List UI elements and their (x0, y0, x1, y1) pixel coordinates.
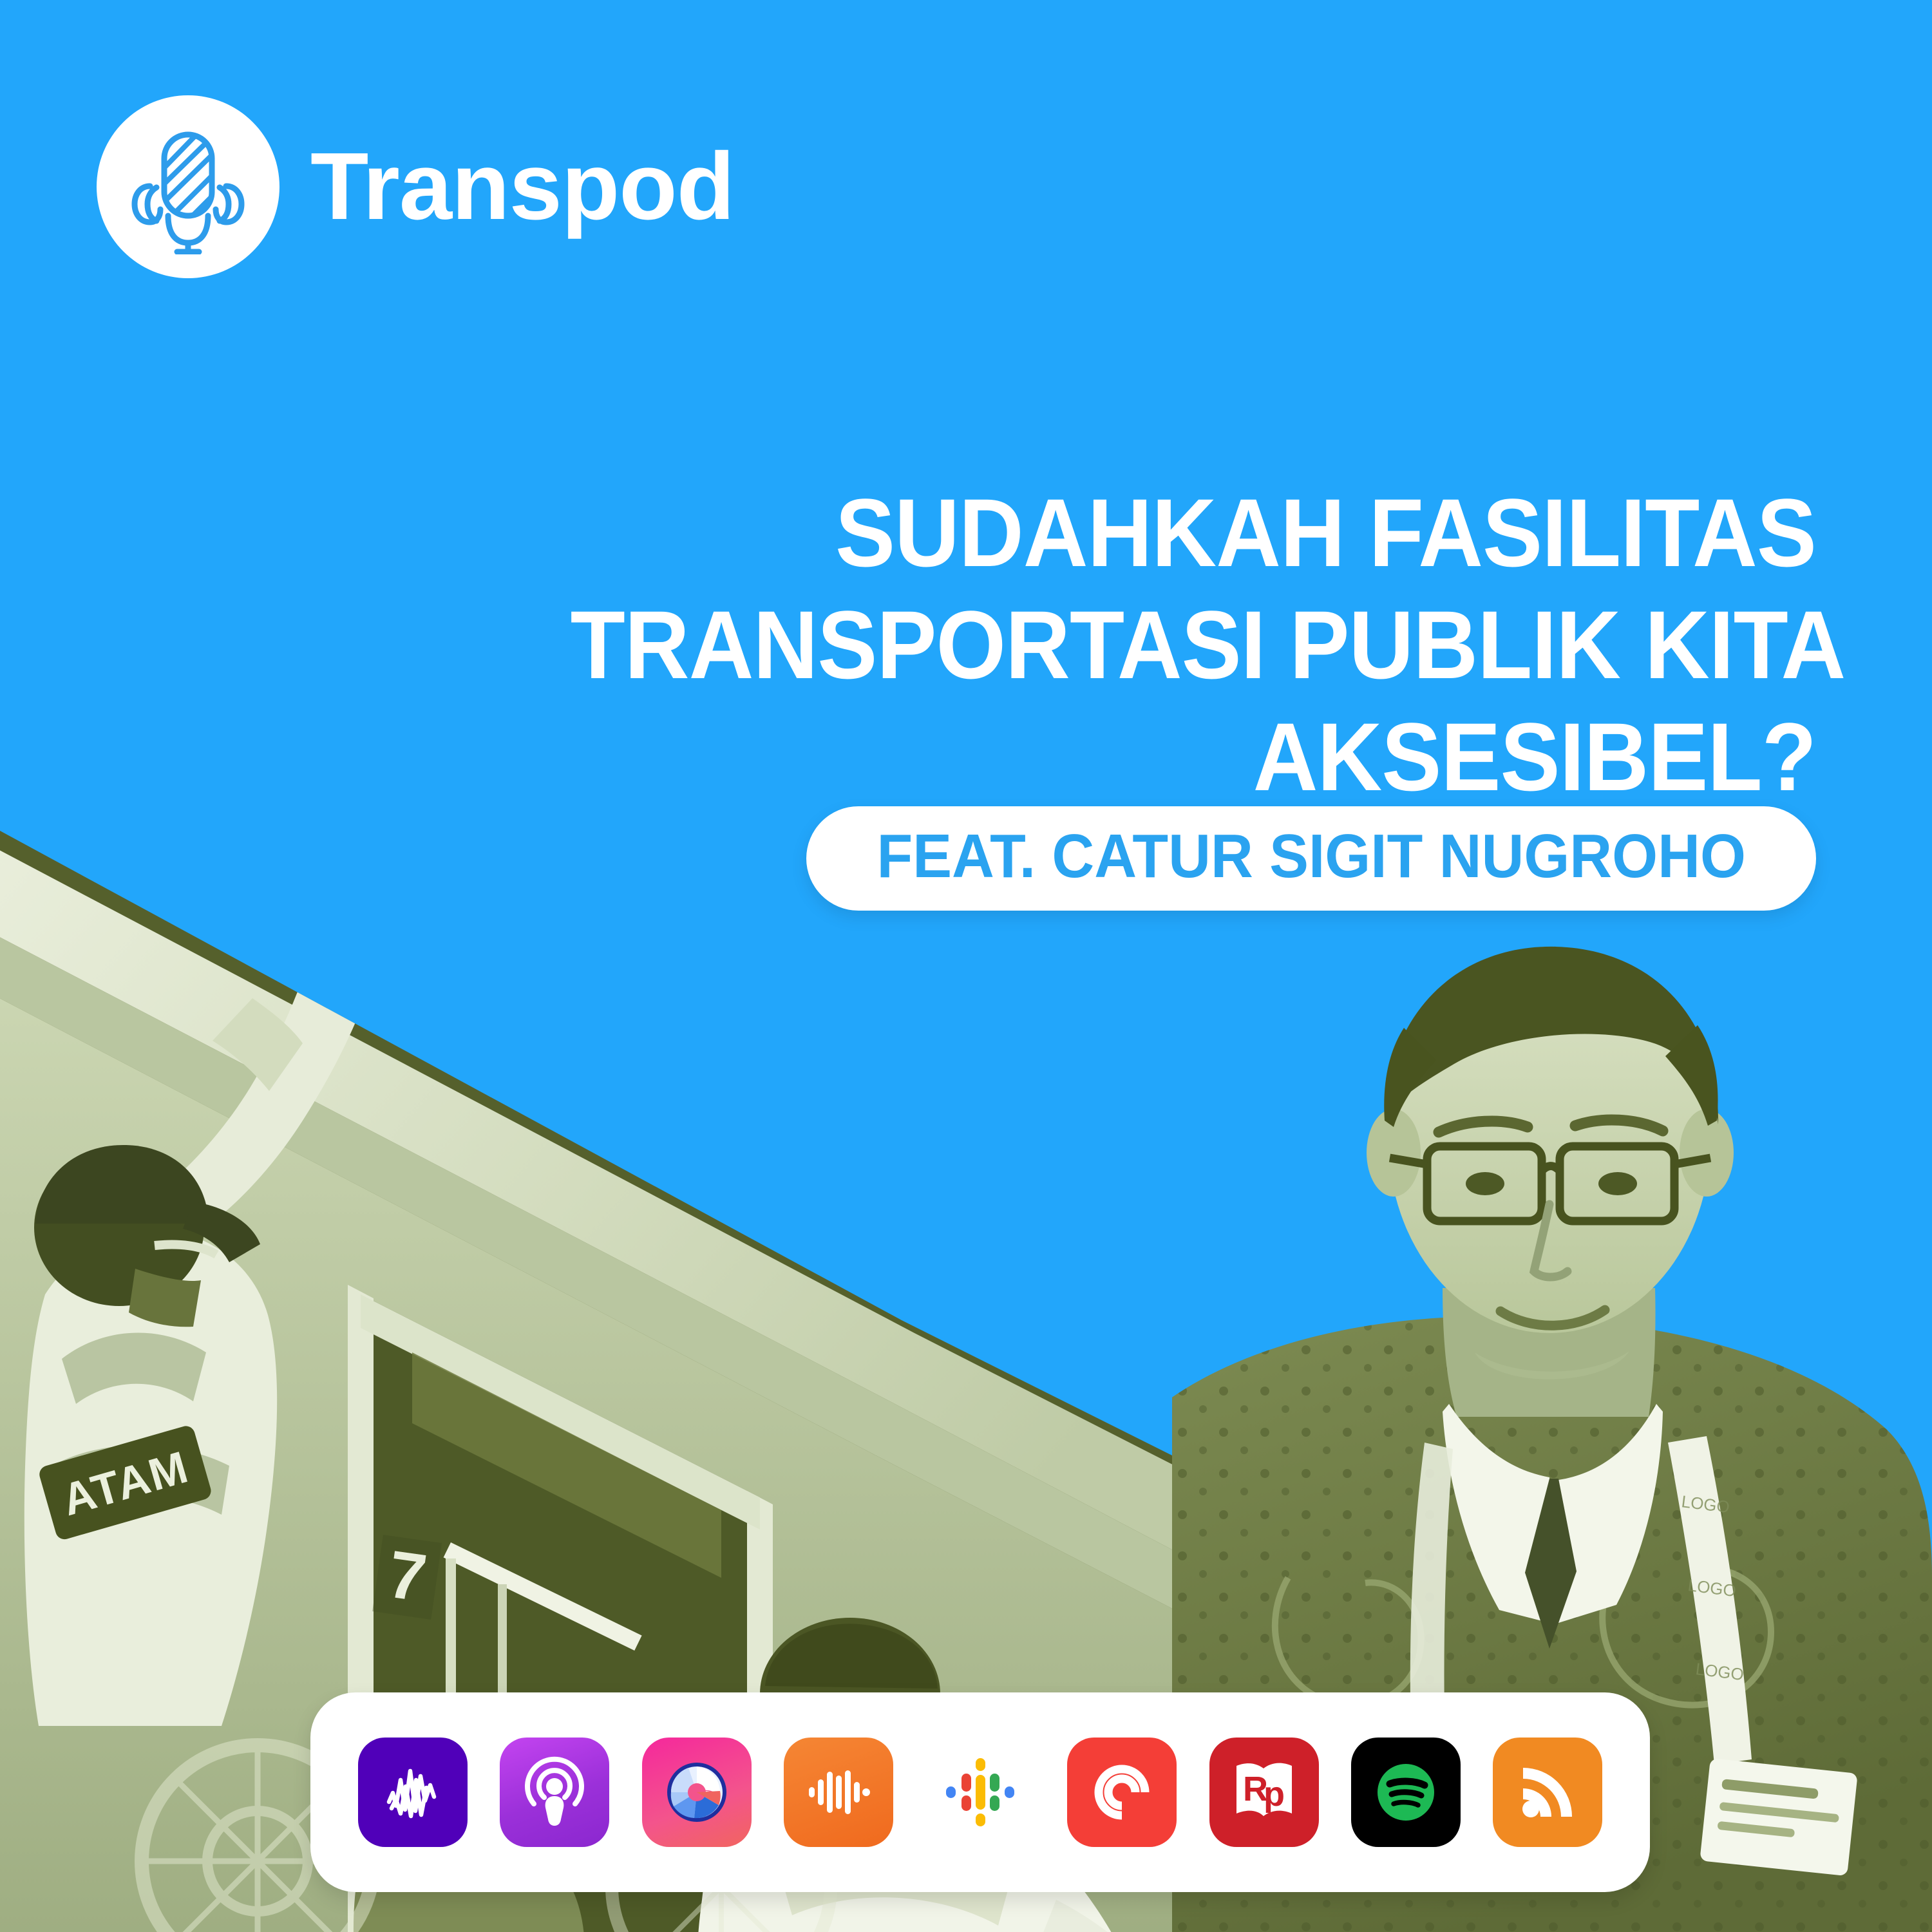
svg-text:LOGO: LOGO (1680, 1492, 1730, 1517)
page-title: SUDAHKAH FASILITAS TRANSPORTASI PUBLIK K… (477, 477, 1816, 813)
title-line-3: AKSESIBEL? (571, 701, 1816, 813)
guest-feature-badge: FEAT. CATUR SIGIT NUGROHO (806, 806, 1816, 911)
svg-text:7: 7 (384, 1537, 431, 1616)
podcast-addict-icon[interactable] (784, 1738, 893, 1847)
castbox-icon[interactable] (642, 1738, 752, 1847)
rss-icon[interactable] (1493, 1738, 1602, 1847)
platform-links-bar: R p (310, 1692, 1650, 1892)
spotify-icon[interactable] (1351, 1738, 1461, 1847)
microphone-icon (97, 95, 279, 278)
svg-text:LOGO: LOGO (1694, 1659, 1745, 1684)
google-podcasts-icon[interactable] (925, 1738, 1035, 1847)
podcast-cover: 7 (0, 0, 1932, 1932)
svg-text:ATAM: ATAM (57, 1441, 194, 1525)
apple-podcasts-icon[interactable] (500, 1738, 609, 1847)
radiopublic-icon[interactable]: R p (1209, 1738, 1319, 1847)
svg-text:LOGO: LOGO (1687, 1575, 1737, 1600)
anchor-waveform-icon[interactable] (358, 1738, 468, 1847)
pocket-casts-icon[interactable] (1067, 1738, 1177, 1847)
brand-name: Transpod (310, 139, 734, 234)
guest-feature-label: FEAT. CATUR SIGIT NUGROHO (876, 826, 1745, 887)
title-line-1: SUDAHKAH FASILITAS (571, 477, 1816, 589)
svg-text:p: p (1264, 1775, 1285, 1814)
photo-layer: 7 (0, 0, 1932, 1932)
brand-lockup: Transpod (97, 95, 734, 278)
title-line-2: TRANSPORTASI PUBLIK KITA (571, 589, 1816, 701)
